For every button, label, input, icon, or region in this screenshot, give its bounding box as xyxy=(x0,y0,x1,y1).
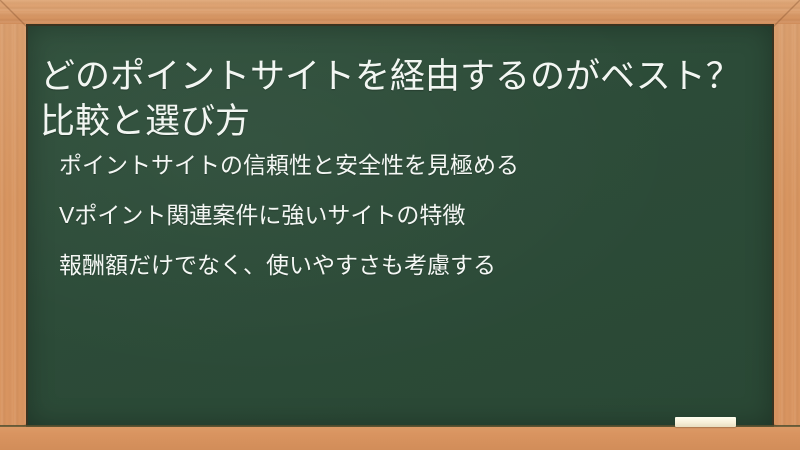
chalk-stick-icon xyxy=(675,417,736,427)
chalkboard-slide: どのポイントサイトを経由するのがベスト？比較と選び方 ポイントサイトの信頼性と安… xyxy=(0,0,800,450)
page-title: どのポイントサイトを経由するのがベスト？比較と選び方 xyxy=(40,54,750,144)
chalkboard-surface: どのポイントサイトを経由するのがベスト？比較と選び方 ポイントサイトの信頼性と安… xyxy=(28,26,772,425)
chalkboard-frame-inner-edge: どのポイントサイトを経由するのがベスト？比較と選び方 ポイントサイトの信頼性と安… xyxy=(26,24,774,427)
list-item: Vポイント関連案件に強いサイトの特徴 xyxy=(40,201,755,229)
key-points-list: ポイントサイトの信頼性と安全性を見極める Vポイント関連案件に強いサイトの特徴 … xyxy=(40,151,755,301)
wood-frame-top-rail xyxy=(0,0,800,24)
list-item: ポイントサイトの信頼性と安全性を見極める xyxy=(40,151,755,179)
chalk-ledge xyxy=(0,427,800,450)
list-item: 報酬額だけでなく、使いやすさも考慮する xyxy=(40,251,755,279)
